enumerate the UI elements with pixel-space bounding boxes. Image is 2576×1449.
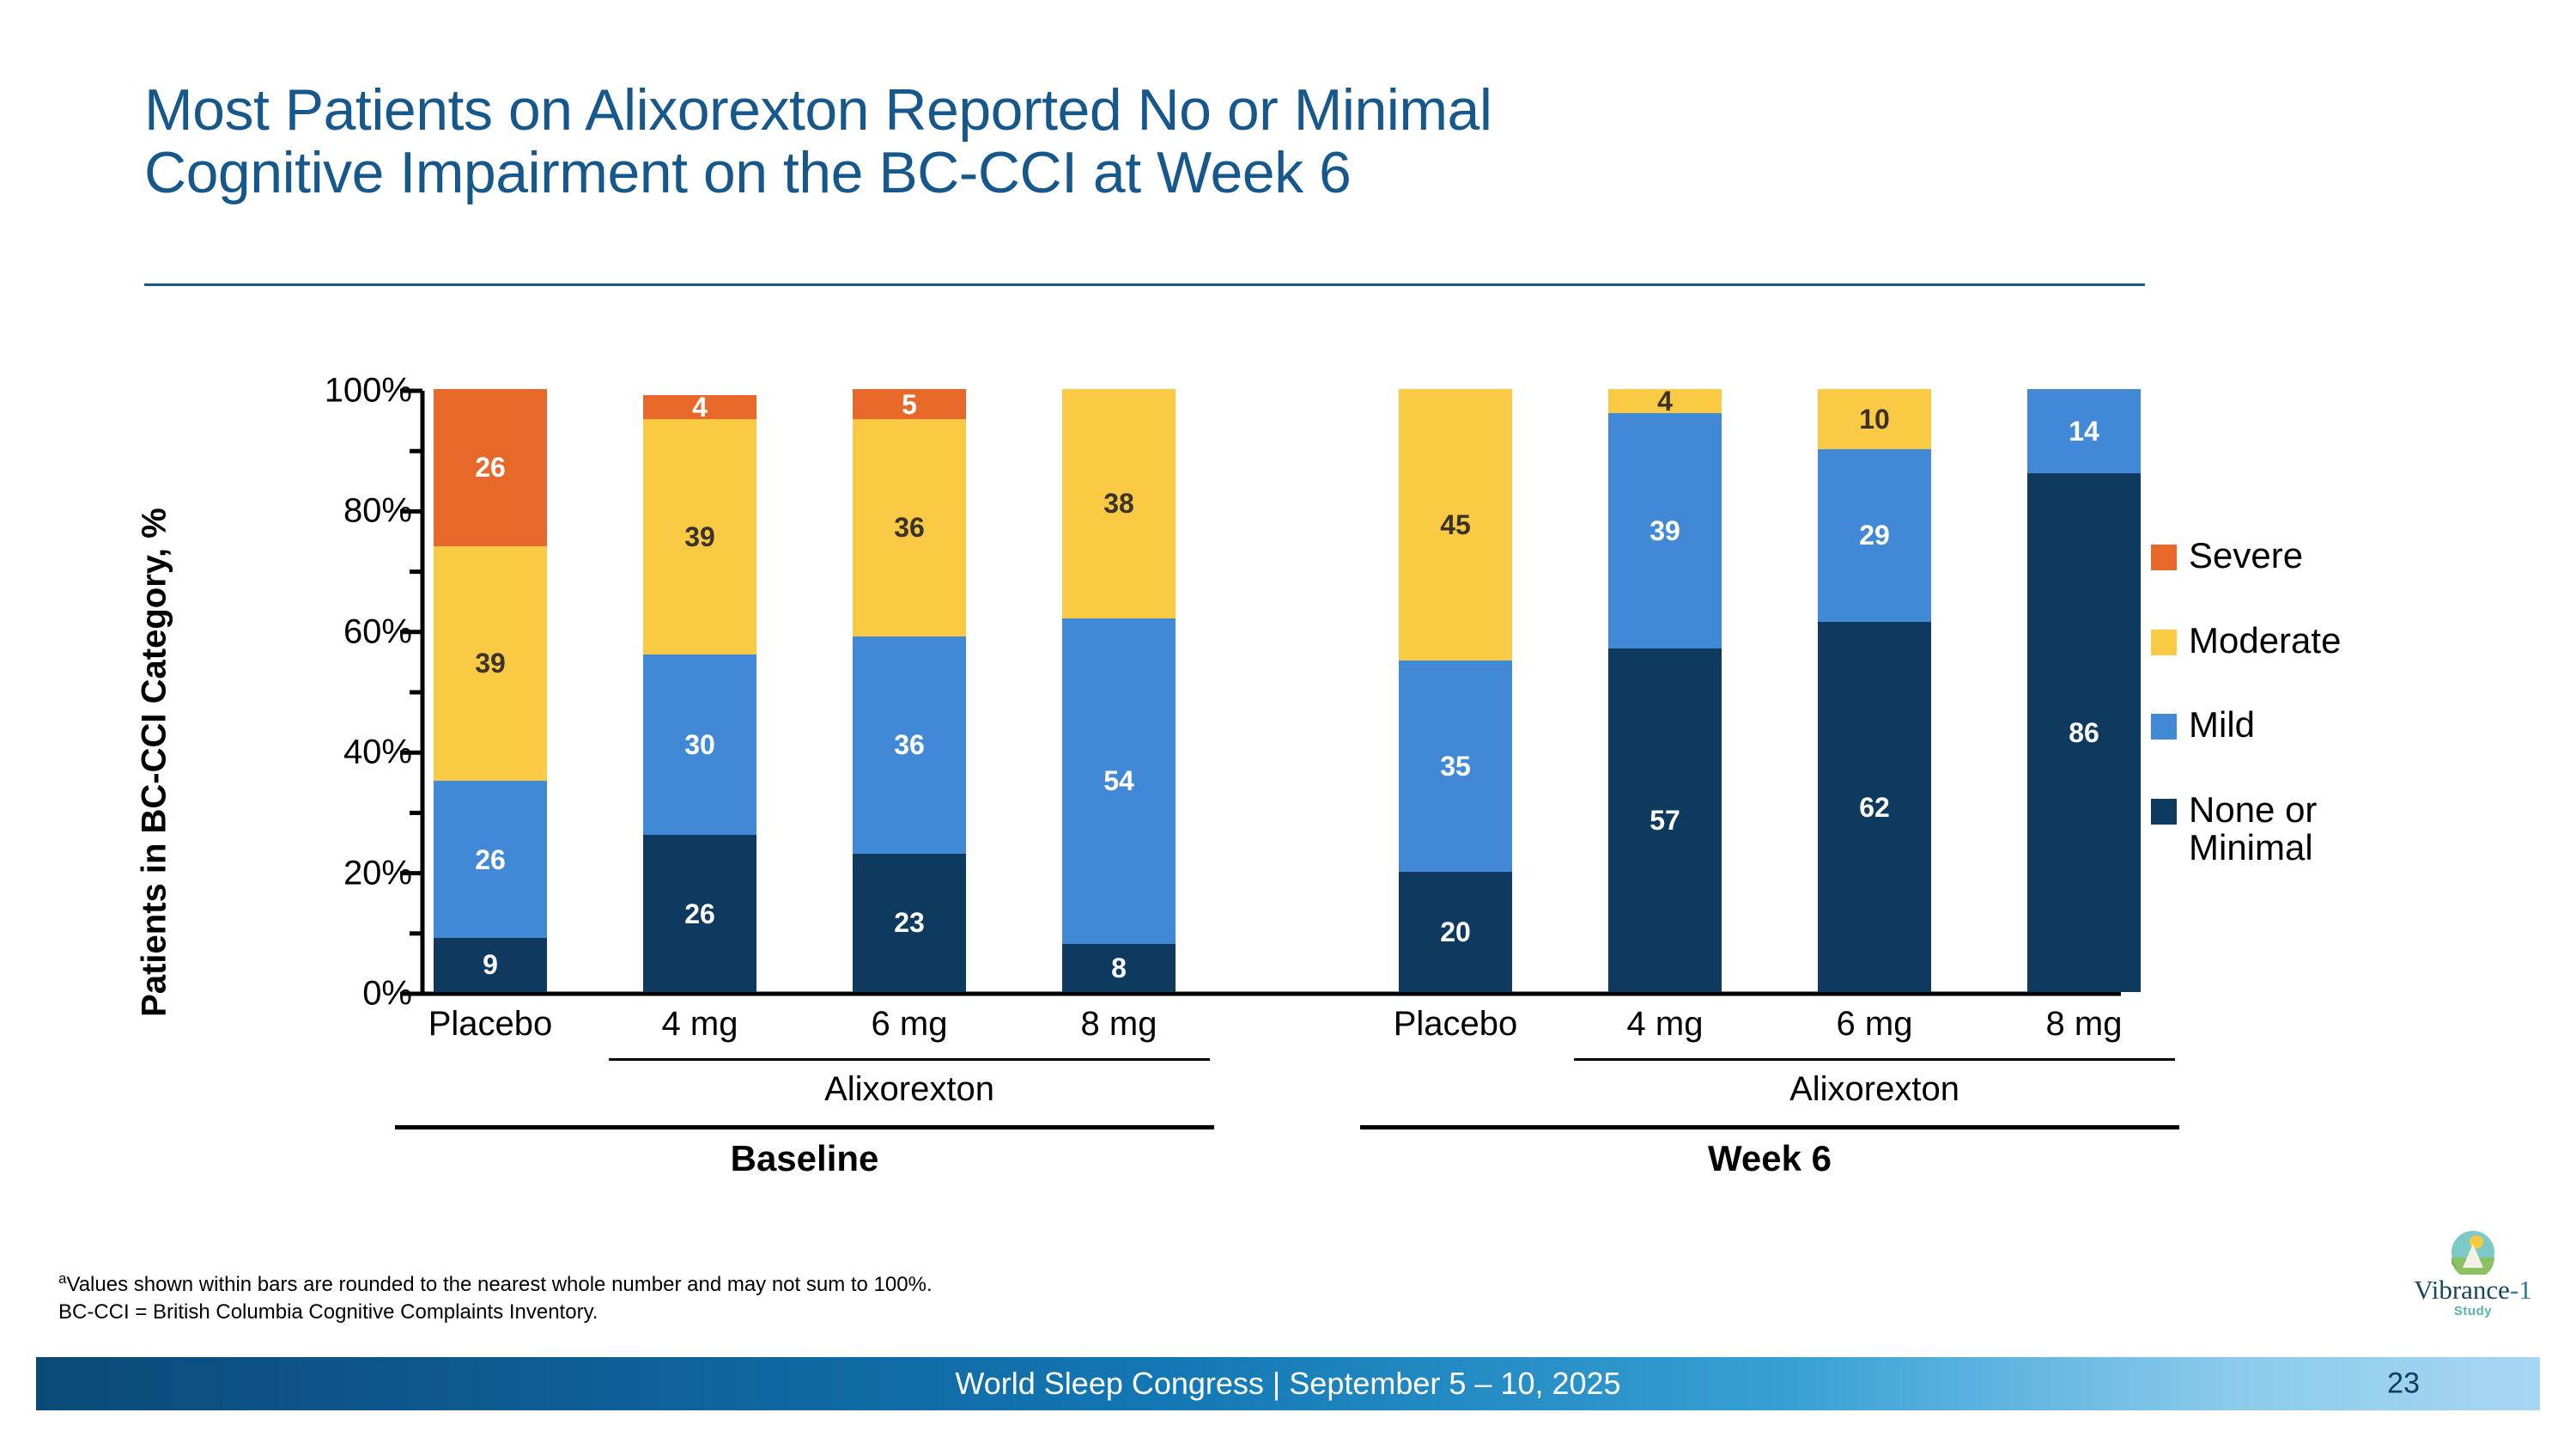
- stacked-bar: 38548: [1062, 389, 1176, 992]
- bar-segment: 8: [1062, 944, 1176, 992]
- drug-group-label: Alixorexton: [1789, 1070, 1959, 1109]
- stacked-bar: 43957: [1608, 389, 1722, 992]
- legend-color-swatch: [2151, 714, 2177, 740]
- bar-segment: 54: [1062, 618, 1176, 944]
- bar-segment-value: 5: [902, 391, 917, 418]
- stacked-bar: 453520: [1399, 389, 1512, 992]
- bar-segment-value: 23: [894, 909, 925, 936]
- bar-segment-value: 39: [475, 649, 506, 677]
- x-axis-category-label: Placebo: [428, 1005, 553, 1044]
- bar-segment-value: 57: [1649, 807, 1680, 834]
- legend-item[interactable]: Moderate: [2151, 622, 2512, 661]
- page-title-line-2: Cognitive Impairment on the BC-CCI at We…: [144, 142, 2145, 204]
- study-logo: Vibrance-1 Study: [2396, 1230, 2550, 1318]
- bar-segment-value: 38: [1103, 490, 1134, 517]
- bar-segment-value: 9: [483, 951, 498, 978]
- bar-segment-value: 20: [1440, 918, 1471, 946]
- title-divider: [144, 283, 2145, 286]
- legend-item[interactable]: Mild: [2151, 706, 2512, 745]
- bar-segment: 10: [1818, 389, 1931, 449]
- stacked-bar: 102962: [1818, 389, 1931, 992]
- bar-segment: 39: [434, 546, 547, 782]
- bar-segment: 4: [1608, 389, 1722, 413]
- bar-segment: 23: [853, 854, 966, 992]
- x-axis-category-label: 6 mg: [872, 1005, 948, 1044]
- bar-segment-value: 39: [1649, 517, 1680, 545]
- legend-color-swatch: [2151, 630, 2177, 655]
- page-title-line-1: Most Patients on Alixorexton Reported No…: [144, 79, 2145, 142]
- stacked-bar: 2639269: [434, 389, 547, 992]
- drug-group-underline: [609, 1058, 1210, 1061]
- bar-segment-value: 39: [684, 523, 715, 551]
- bar-segment-value: 26: [475, 454, 506, 481]
- legend-label: Severe: [2189, 537, 2303, 575]
- bar-segment: 4: [643, 395, 756, 419]
- logo-wordmark: Vibrance-1: [2396, 1276, 2550, 1303]
- bar-segment-value: 26: [475, 846, 506, 874]
- x-axis-group-labels: Placebo4 mg6 mg8 mgAlixorextonBaselinePl…: [0, 1005, 2576, 1202]
- bar-segment-value: 4: [692, 393, 708, 421]
- bar-segment: 30: [643, 654, 756, 836]
- bar-segment: 26: [434, 389, 547, 546]
- stacked-bar: 1486: [2027, 389, 2141, 992]
- x-axis-category-label: 4 mg: [1627, 1005, 1704, 1044]
- footnote-line-1: aValues shown within bars are rounded to…: [58, 1269, 1518, 1299]
- stacked-bar: 5363623: [853, 389, 966, 992]
- bar-segment: 45: [1399, 389, 1512, 661]
- x-axis-category-label: Placebo: [1394, 1005, 1518, 1044]
- x-axis-category-label: 8 mg: [1081, 1005, 1157, 1044]
- page-number: 23: [2387, 1367, 2420, 1401]
- bar-segment-value: 86: [2069, 719, 2099, 746]
- bar-segment-value: 29: [1859, 521, 1890, 549]
- bar-segment: 29: [1818, 449, 1931, 623]
- legend-label: Mild: [2189, 706, 2255, 745]
- drug-group-underline: [1574, 1058, 2175, 1061]
- bar-segment-value: 35: [1440, 752, 1471, 780]
- legend-color-swatch: [2151, 545, 2177, 570]
- legend-label: None orMinimal: [2189, 791, 2317, 868]
- bar-segment: 39: [1608, 413, 1722, 648]
- bar-segment-value: 36: [894, 514, 925, 541]
- bar-segment: 39: [643, 419, 756, 654]
- bar-segment-value: 8: [1111, 954, 1127, 982]
- bar-segment-value: 10: [1859, 405, 1890, 433]
- page-title: Most Patients on Alixorexton Reported No…: [144, 79, 2145, 205]
- bar-segment-value: 45: [1440, 511, 1471, 539]
- plot-area: 2639269439302653636233854845352043957102…: [434, 391, 2138, 992]
- bar-segment: 9: [434, 938, 547, 992]
- logo-sublabel: Study: [2396, 1304, 2550, 1318]
- bar-segment-value: 62: [1859, 794, 1890, 821]
- bar-segment-value: 14: [2069, 417, 2099, 445]
- legend-label: Moderate: [2189, 622, 2341, 661]
- x-axis-category-label: 6 mg: [1837, 1005, 1913, 1044]
- bar-segment: 62: [1818, 622, 1931, 992]
- bar-segment: 36: [853, 636, 966, 854]
- stacked-bar: 4393026: [643, 389, 756, 992]
- bar-segment: 35: [1399, 661, 1512, 872]
- bar-segment: 14: [2027, 389, 2141, 473]
- logo-wordmark-suffix: -1: [2510, 1275, 2532, 1305]
- bar-segment: 38: [1062, 389, 1176, 618]
- period-group-underline: [1360, 1125, 2179, 1129]
- x-axis-category-label: 8 mg: [2046, 1005, 2123, 1044]
- legend-item[interactable]: None orMinimal: [2151, 791, 2512, 868]
- legend-item[interactable]: Severe: [2151, 537, 2512, 575]
- bar-segment-value: 36: [894, 731, 925, 758]
- footer-conference-text: World Sleep Congress | September 5 – 10,…: [955, 1366, 1620, 1402]
- bar-segment: 20: [1399, 872, 1512, 992]
- bar-segment: 86: [2027, 473, 2141, 992]
- chart-legend: SevereModerateMildNone orMinimal: [2151, 537, 2512, 914]
- bar-segment: 57: [1608, 648, 1722, 992]
- logo-wordmark-primary: Vibrance: [2414, 1275, 2510, 1305]
- legend-color-swatch: [2151, 799, 2177, 825]
- footnote-line-2: BC-CCI = British Columbia Cognitive Comp…: [58, 1299, 1518, 1326]
- footer-bar: World Sleep Congress | September 5 – 10,…: [36, 1357, 2540, 1410]
- bar-segment-value: 4: [1657, 387, 1673, 415]
- bar-segment-value: 26: [684, 900, 715, 928]
- period-group-underline: [395, 1125, 1214, 1129]
- period-group-label: Week 6: [1708, 1138, 1832, 1179]
- mountain-sun-logo-icon: [2451, 1230, 2495, 1275]
- bar-segment: 26: [434, 781, 547, 938]
- bar-segment-value: 54: [1103, 767, 1134, 795]
- footnotes: aValues shown within bars are rounded to…: [58, 1269, 1518, 1327]
- bar-segment: 36: [853, 419, 966, 636]
- drug-group-label: Alixorexton: [824, 1070, 994, 1109]
- footnote-text-1: Values shown within bars are rounded to …: [66, 1273, 932, 1296]
- bar-segment: 26: [643, 835, 756, 992]
- period-group-label: Baseline: [731, 1138, 879, 1179]
- x-axis-category-label: 4 mg: [662, 1005, 738, 1044]
- bar-segment: 5: [853, 389, 966, 419]
- bar-segment-value: 30: [684, 731, 715, 758]
